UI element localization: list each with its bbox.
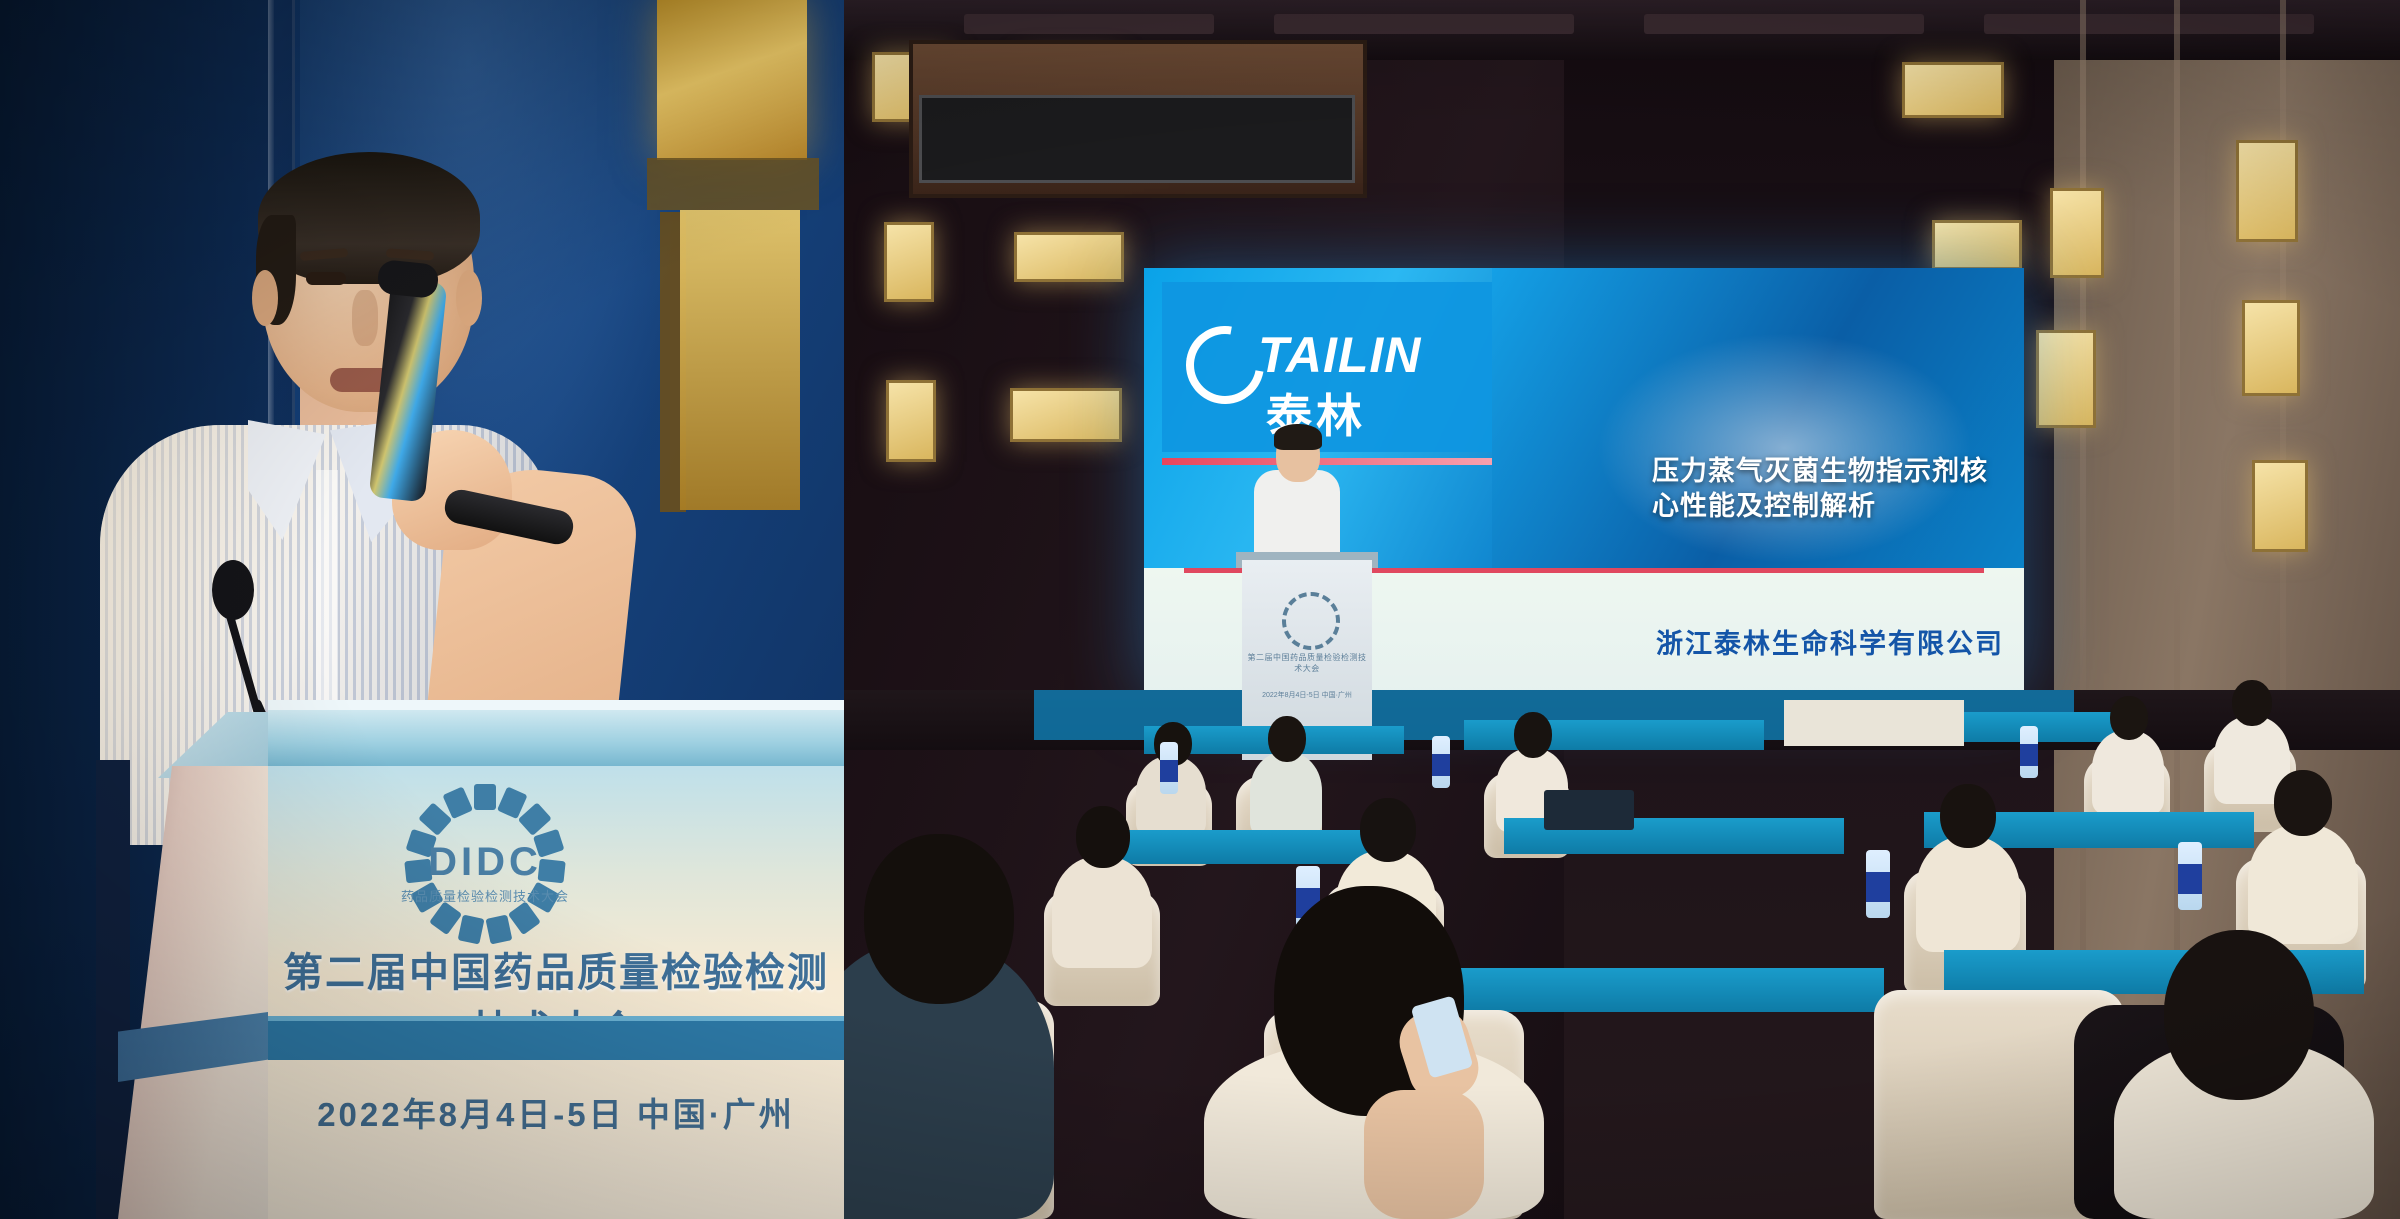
water-bottle-label bbox=[1160, 760, 1178, 782]
screenshot-root: DIDC 药品质量检验检测技术大会 第二届中国药品质量检验检测技术大会 2022… bbox=[0, 0, 2400, 1219]
podium-left-shadow bbox=[96, 760, 130, 1219]
amber-wall-panel bbox=[886, 380, 936, 462]
audience-person-head bbox=[1514, 712, 1552, 758]
speaker-eye-left bbox=[306, 272, 346, 285]
podium-top-edge bbox=[268, 700, 844, 710]
audience-person-head bbox=[2232, 680, 2272, 726]
podium-sign-date: 2022年8月4日-5日 中国·广州 bbox=[268, 1088, 844, 1136]
water-bottle-label bbox=[2020, 744, 2038, 766]
podium-blue-band-highlight bbox=[268, 1016, 844, 1021]
audience-table-cloth bbox=[1784, 700, 1964, 746]
podium-blue-band bbox=[268, 1016, 844, 1060]
speaker-ear-left bbox=[252, 270, 278, 326]
stage-lectern-logo-icon bbox=[1282, 592, 1340, 650]
amber-wall-panel bbox=[2036, 330, 2096, 428]
amber-wall-panel bbox=[884, 222, 934, 302]
audience-person-head bbox=[1940, 784, 1996, 848]
gold-strip bbox=[680, 210, 800, 510]
slide-title: 压力蒸气灭菌生物指示剂核心性能及控制解析 bbox=[1652, 454, 2004, 523]
ceiling-light-slot bbox=[1984, 14, 2314, 34]
stage-lectern-date: 2022年8月4日-5日 中国·广州 bbox=[1244, 690, 1370, 700]
stage-lectern-title: 第二届中国药品质量检验检测技术大会 bbox=[1244, 652, 1370, 674]
wall-art-inner-frame bbox=[919, 95, 1355, 183]
tailin-logo-block: TAILIN 泰林 bbox=[1162, 282, 1492, 452]
tailin-wordmark: TAILIN bbox=[1258, 326, 1421, 384]
tailin-logo-underline bbox=[1162, 458, 1492, 465]
ceiling-light-slot bbox=[964, 14, 1214, 34]
didc-wordmark: DIDC bbox=[380, 840, 590, 885]
water-bottle-label bbox=[2178, 864, 2202, 894]
ceiling-light-slot bbox=[1644, 14, 1924, 34]
gold-wall-panel-shadow bbox=[647, 158, 819, 210]
water-bottle-label bbox=[1866, 872, 1890, 902]
audience-person-arm bbox=[1364, 1090, 1484, 1219]
ceiling-light-slot bbox=[1274, 14, 1574, 34]
audience-person-torso bbox=[2248, 824, 2358, 944]
laptop bbox=[1544, 790, 1634, 830]
speaker-nose bbox=[352, 290, 378, 346]
amber-wall-panel bbox=[2242, 300, 2300, 396]
right-panel-hall: TAILIN 泰林 压力蒸气灭菌生物指示剂核心性能及控制解析 浙江泰林生命科学有… bbox=[844, 0, 2400, 1219]
amber-wall-panel bbox=[1932, 220, 2022, 270]
audience-person-head bbox=[1076, 806, 1130, 868]
amber-wall-panel bbox=[2252, 460, 2308, 552]
audience-person-torso bbox=[2092, 730, 2164, 814]
stage-presenter-hair bbox=[1274, 424, 1322, 450]
audience-table bbox=[1444, 968, 1884, 1012]
amber-wall-panel bbox=[1902, 62, 2004, 118]
audience-person-head bbox=[2164, 930, 2314, 1100]
audience-person-head bbox=[1360, 798, 1416, 862]
audience-person-head bbox=[2110, 696, 2148, 740]
didc-logo: DIDC 药品质量检验检测技术大会 bbox=[380, 778, 590, 958]
audience-person-torso bbox=[1250, 752, 1322, 836]
amber-wall-panel bbox=[1014, 232, 1124, 282]
amber-wall-panel bbox=[1010, 388, 1122, 442]
gold-wall-panel bbox=[657, 0, 807, 160]
audience-person-torso bbox=[1052, 856, 1152, 968]
amber-wall-panel bbox=[2050, 188, 2104, 278]
didc-logo-subtitle: 药品质量检验检测技术大会 bbox=[380, 886, 590, 905]
audience-person-torso bbox=[1916, 836, 2020, 952]
audience-person-head bbox=[2274, 770, 2332, 836]
audience-person-head bbox=[1268, 716, 1306, 762]
amber-wall-panel bbox=[2236, 140, 2298, 242]
speaker-ear-right bbox=[456, 270, 482, 326]
left-panel-speaker: DIDC 药品质量检验检测技术大会 第二届中国药品质量检验检测技术大会 2022… bbox=[0, 0, 844, 1219]
water-bottle-label bbox=[1432, 754, 1450, 776]
audience-person-head bbox=[864, 834, 1014, 1004]
gooseneck-microphone-head bbox=[212, 560, 254, 620]
audience-table bbox=[1464, 720, 1764, 750]
